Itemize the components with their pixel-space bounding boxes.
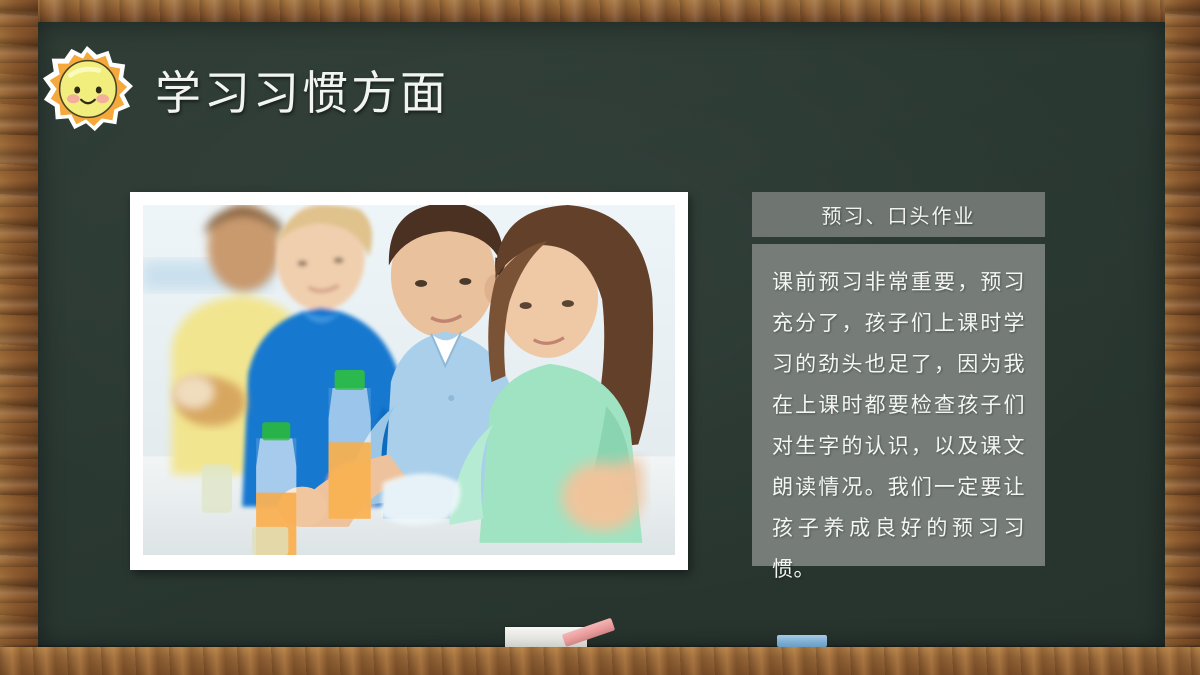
panel-body-text: 课前预习非常重要，预习充分了，孩子们上课时学习的劲头也足了，因为我在上课时都要检… bbox=[772, 262, 1025, 590]
panel-header-label: 预习、口头作业 bbox=[822, 200, 976, 229]
photo-frame bbox=[130, 192, 688, 570]
chalk-ledge-wood bbox=[0, 647, 1200, 675]
presentation-slide: 学习习惯方面 bbox=[0, 0, 1200, 675]
title-row: 学习习惯方面 bbox=[0, 22, 640, 142]
panel-header: 预习、口头作业 bbox=[752, 192, 1045, 237]
frame-top-wood bbox=[0, 0, 1200, 22]
frame-right-wood bbox=[1165, 0, 1200, 675]
sun-smiley-icon bbox=[38, 44, 136, 134]
page-title: 学习习惯方面 bbox=[155, 57, 449, 123]
blue-chalk-stick[interactable] bbox=[777, 635, 827, 647]
classroom-photo bbox=[143, 205, 675, 555]
panel-body: 课前预习非常重要，预习充分了，孩子们上课时学习的劲头也足了，因为我在上课时都要检… bbox=[752, 244, 1045, 566]
